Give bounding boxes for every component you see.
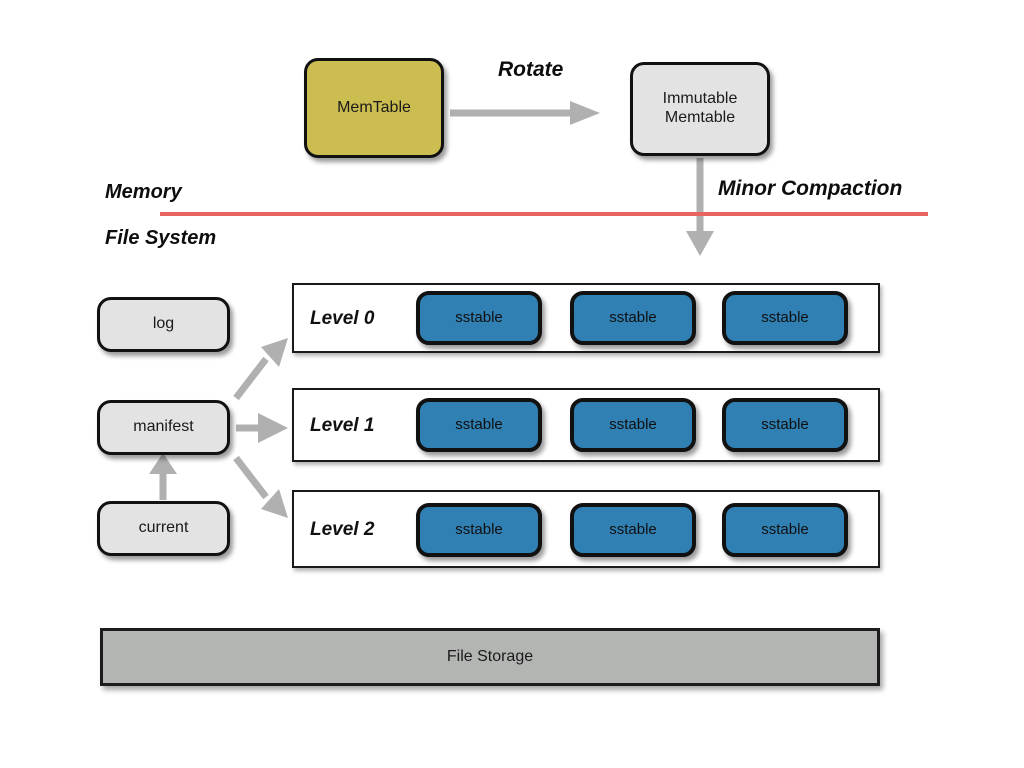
memtable-label: MemTable	[337, 99, 411, 118]
sstable-l1-1-label: sstable	[455, 416, 503, 434]
file-system-label: File System	[105, 227, 216, 250]
level-label-1: Level 1	[310, 415, 374, 437]
manifest-to-level2-arrow	[236, 458, 288, 518]
sstable-l2-1[interactable]: sstable	[416, 503, 542, 557]
manifest-to-level1-arrow	[236, 413, 288, 443]
immutable-memtable-node[interactable]: Immutable Memtable	[630, 62, 770, 156]
file-storage-label: File Storage	[447, 648, 533, 666]
immutable-memtable-label-line1: Immutable	[663, 90, 738, 109]
sstable-l0-2-label: sstable	[609, 309, 657, 327]
sstable-l1-3-label: sstable	[761, 416, 809, 434]
sstable-l2-3[interactable]: sstable	[722, 503, 848, 557]
minor-compaction-label: Minor Compaction	[718, 177, 902, 201]
file-node-log[interactable]: log	[97, 297, 230, 352]
sstable-l0-3-label: sstable	[761, 309, 809, 327]
file-node-manifest[interactable]: manifest	[97, 400, 230, 455]
sstable-l0-3[interactable]: sstable	[722, 291, 848, 345]
sstable-l2-2-label: sstable	[609, 521, 657, 539]
file-node-current-label: current	[139, 519, 189, 538]
file-node-log-label: log	[153, 315, 174, 334]
sstable-l2-3-label: sstable	[761, 521, 809, 539]
memory-label: Memory	[105, 181, 182, 204]
rotate-arrow-label: Rotate	[498, 58, 563, 82]
sstable-l0-2[interactable]: sstable	[570, 291, 696, 345]
sstable-l1-3[interactable]: sstable	[722, 398, 848, 452]
current-to-manifest-arrow	[149, 453, 177, 500]
manifest-to-level0-arrow	[236, 338, 288, 398]
sstable-l1-1[interactable]: sstable	[416, 398, 542, 452]
diagram-canvas: MemTable Immutable Memtable Rotate Minor…	[0, 0, 1024, 768]
memtable-node[interactable]: MemTable	[304, 58, 444, 158]
sstable-l0-1-label: sstable	[455, 309, 503, 327]
level-label-2: Level 2	[310, 519, 374, 541]
file-storage-bar[interactable]: File Storage	[100, 628, 880, 686]
rotate-arrow	[450, 101, 600, 125]
minor-compaction-arrow	[686, 158, 714, 256]
sstable-l2-1-label: sstable	[455, 521, 503, 539]
file-node-manifest-label: manifest	[133, 418, 193, 437]
immutable-memtable-label-line2: Memtable	[665, 109, 735, 128]
sstable-l2-2[interactable]: sstable	[570, 503, 696, 557]
sstable-l1-2[interactable]: sstable	[570, 398, 696, 452]
file-node-current[interactable]: current	[97, 501, 230, 556]
level-label-0: Level 0	[310, 308, 374, 330]
sstable-l1-2-label: sstable	[609, 416, 657, 434]
sstable-l0-1[interactable]: sstable	[416, 291, 542, 345]
